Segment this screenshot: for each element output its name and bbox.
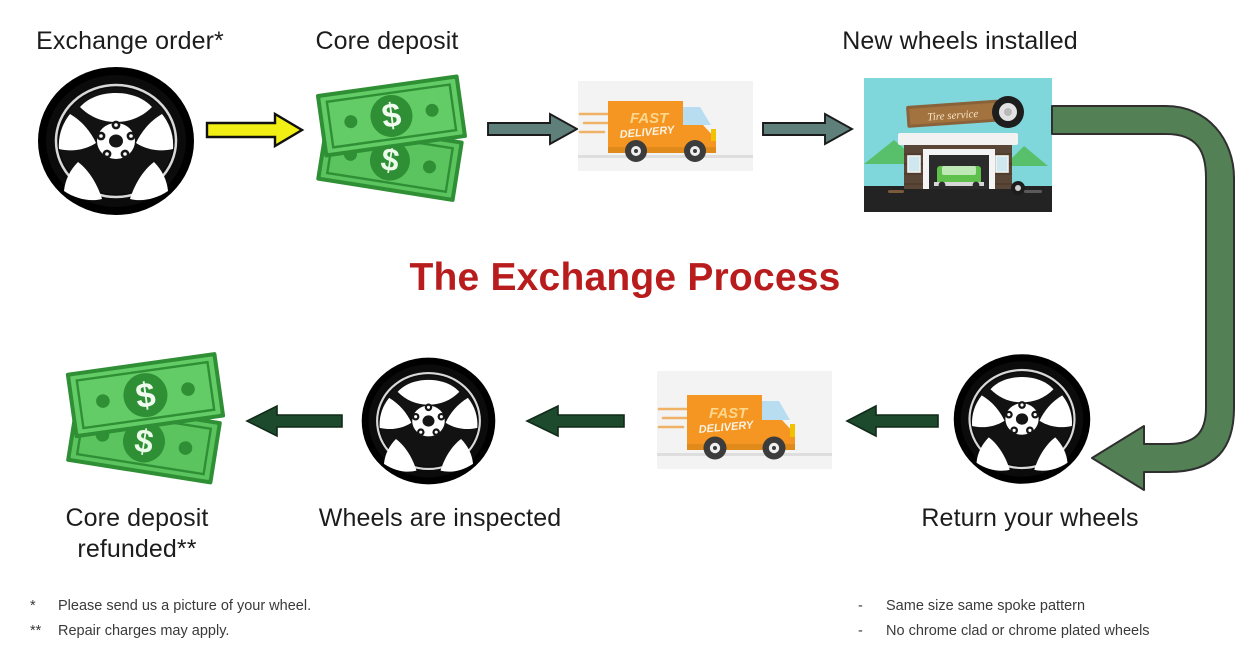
arrow-inspect-to-refund	[243, 404, 343, 438]
alloy-wheel-icon	[360, 356, 497, 486]
arrow-order-to-deposit	[205, 112, 305, 148]
footnote-left-1: * Please send us a picture of your wheel…	[30, 594, 450, 619]
node-label-wheels-inspected: Wheels are inspected	[290, 503, 590, 534]
footnote-left-2: ** Repair charges may apply.	[30, 619, 450, 644]
footnote-right-2: - No chrome clad or chrome plated wheels	[858, 619, 1238, 644]
footnote-text: Same size same spoke pattern	[886, 594, 1085, 619]
node-label-new-wheels-installed: New wheels installed	[800, 26, 1120, 57]
footnotes-left: * Please send us a picture of your wheel…	[30, 594, 450, 645]
tire-service-shop-image: Tire service	[864, 78, 1052, 212]
alloy-wheel-icon	[952, 352, 1092, 486]
footnote-text: No chrome clad or chrome plated wheels	[886, 619, 1150, 644]
footnote-mark: **	[30, 619, 50, 644]
footnote-mark: *	[30, 594, 50, 619]
node-label-exchange-order: Exchange order*	[10, 26, 250, 57]
node-label-return-your-wheels: Return your wheels	[880, 503, 1180, 534]
cash-money-icon: $ $	[305, 72, 480, 202]
arrow-return-to-truck	[843, 404, 939, 438]
fast-delivery-truck-image: FAST DELIVERY	[578, 81, 753, 171]
footnote-right-1: - Same size same spoke pattern	[858, 594, 1238, 619]
alloy-wheel-icon	[36, 66, 196, 216]
node-label-core-deposit-refunded: Core deposit refunded**	[22, 503, 252, 564]
footnote-bullet: -	[858, 619, 878, 644]
fast-delivery-truck-image: FAST DELIVERY	[657, 371, 832, 469]
arrow-truck-to-inspect	[523, 404, 625, 438]
arrow-deposit-to-truck	[487, 112, 579, 146]
footnotes-right: - Same size same spoke pattern - No chro…	[858, 594, 1238, 645]
footnote-text: Repair charges may apply.	[58, 619, 229, 644]
arrow-truck-to-shop	[762, 112, 854, 146]
exchange-process-diagram: The Exchange Process Exchange order* Cor…	[0, 0, 1250, 666]
footnote-text: Please send us a picture of your wheel.	[58, 594, 311, 619]
node-label-core-deposit: Core deposit	[277, 26, 497, 57]
cash-money-icon: $ $	[55, 350, 240, 485]
footnote-bullet: -	[858, 594, 878, 619]
